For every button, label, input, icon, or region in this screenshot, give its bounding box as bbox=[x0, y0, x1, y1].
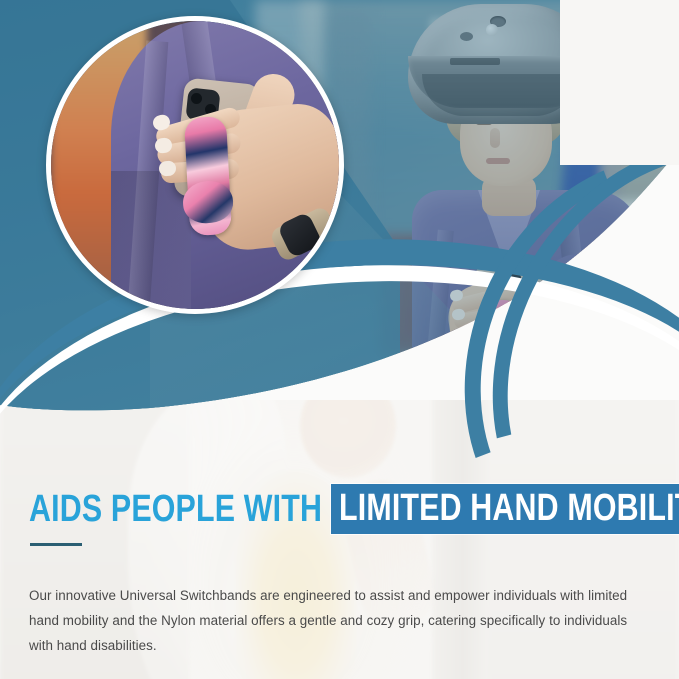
inset-lens-1 bbox=[191, 93, 202, 104]
inset-circle-photo bbox=[46, 16, 344, 314]
headline-highlight-box: LIMITED HAND MOBILITY bbox=[331, 484, 679, 534]
arc-top-mask bbox=[560, 0, 679, 165]
product-feature-page: AIDS PEOPLE WITH LIMITED HAND MOBILITY O… bbox=[0, 0, 679, 679]
title-divider bbox=[30, 543, 82, 546]
headline-highlight-text: LIMITED HAND MOBILITY bbox=[339, 489, 679, 527]
page-title: AIDS PEOPLE WITH LIMITED HAND MOBILITY bbox=[29, 484, 679, 534]
headline-plain-text: AIDS PEOPLE WITH bbox=[29, 490, 322, 528]
body-paragraph: Our innovative Universal Switchbands are… bbox=[29, 583, 634, 658]
hero-section bbox=[0, 0, 679, 470]
